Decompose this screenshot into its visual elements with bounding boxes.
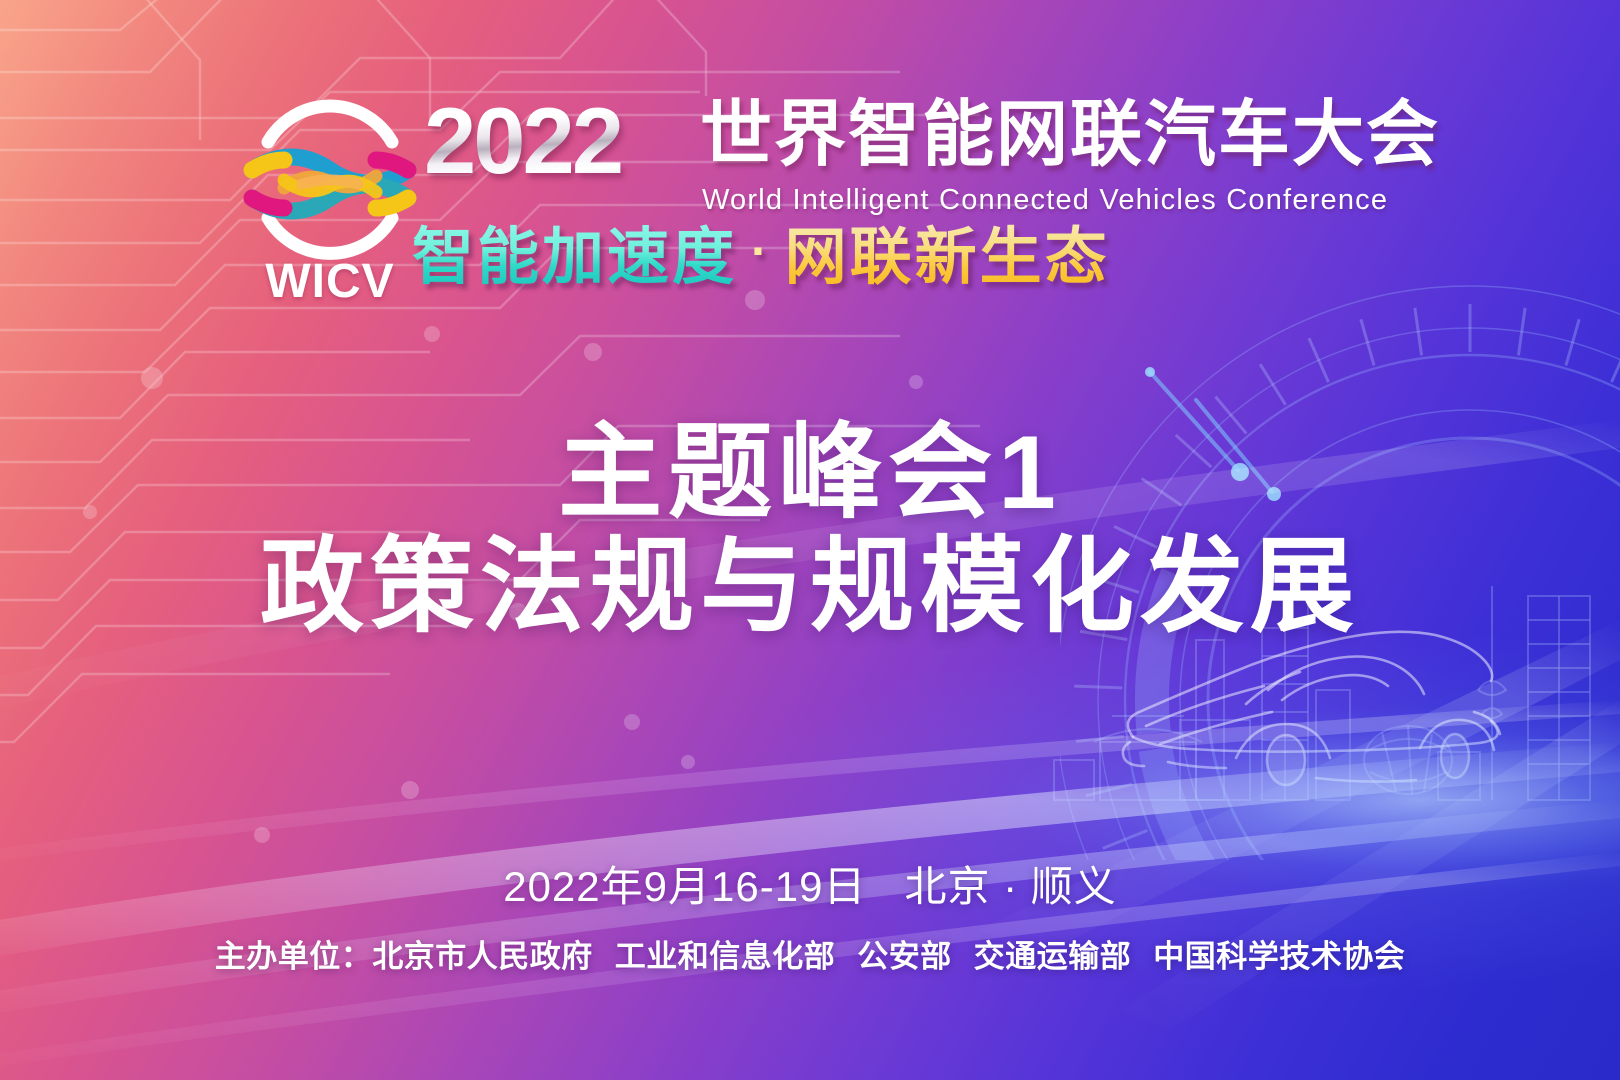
banner-footer: 2022年9月16-19日北京 · 顺义 主办单位：北京市人民政府工业和信息化部… (0, 860, 1620, 976)
session-title: 主题峰会1 政策法规与规模化发展 (0, 418, 1620, 646)
organizer-item: 公安部 (857, 931, 952, 976)
date-location-line: 2022年9月16-19日北京 · 顺义 (0, 860, 1620, 915)
conference-slogan: 智能加速度·网联新生态 (412, 226, 1110, 289)
organizer-list: 北京市人民政府工业和信息化部公安部交通运输部中国科学技术协会 (372, 939, 1405, 974)
year-2022: 2022 (424, 94, 621, 188)
organizer-item: 交通运输部 (974, 931, 1132, 976)
wicv-logo: WICV (236, 96, 424, 311)
organizer-item: 中国科学技术协会 (1153, 931, 1405, 976)
wicv-infinity-ring-logo (240, 96, 420, 264)
session-title-line1: 主题峰会1 (0, 418, 1620, 529)
event-location: 北京 · 顺义 (904, 863, 1116, 910)
slogan-part2: 网联新生态 (785, 223, 1110, 292)
organizer-item: 北京市人民政府 (372, 931, 593, 976)
slogan-separator: · (737, 223, 785, 279)
organizer-item: 工业和信息化部 (615, 931, 836, 976)
conference-title-en: World Intelligent Connected Vehicles Con… (702, 184, 1388, 217)
slogan-part1: 智能加速度 (412, 223, 737, 292)
conference-banner: WICV 2022 世界智能网联汽车大会 World Intelligent C… (0, 0, 1620, 1080)
organizers-line: 主办单位：北京市人民政府工业和信息化部公安部交通运输部中国科学技术协会 (0, 931, 1620, 976)
event-date: 2022年9月16-19日 (503, 863, 866, 910)
session-title-line2: 政策法规与规模化发展 (0, 529, 1620, 645)
conference-title-cn: 世界智能网联汽车大会 (700, 99, 1440, 171)
organizer-label: 主办单位： (215, 939, 373, 974)
wicv-wordmark: WICV (236, 258, 424, 306)
